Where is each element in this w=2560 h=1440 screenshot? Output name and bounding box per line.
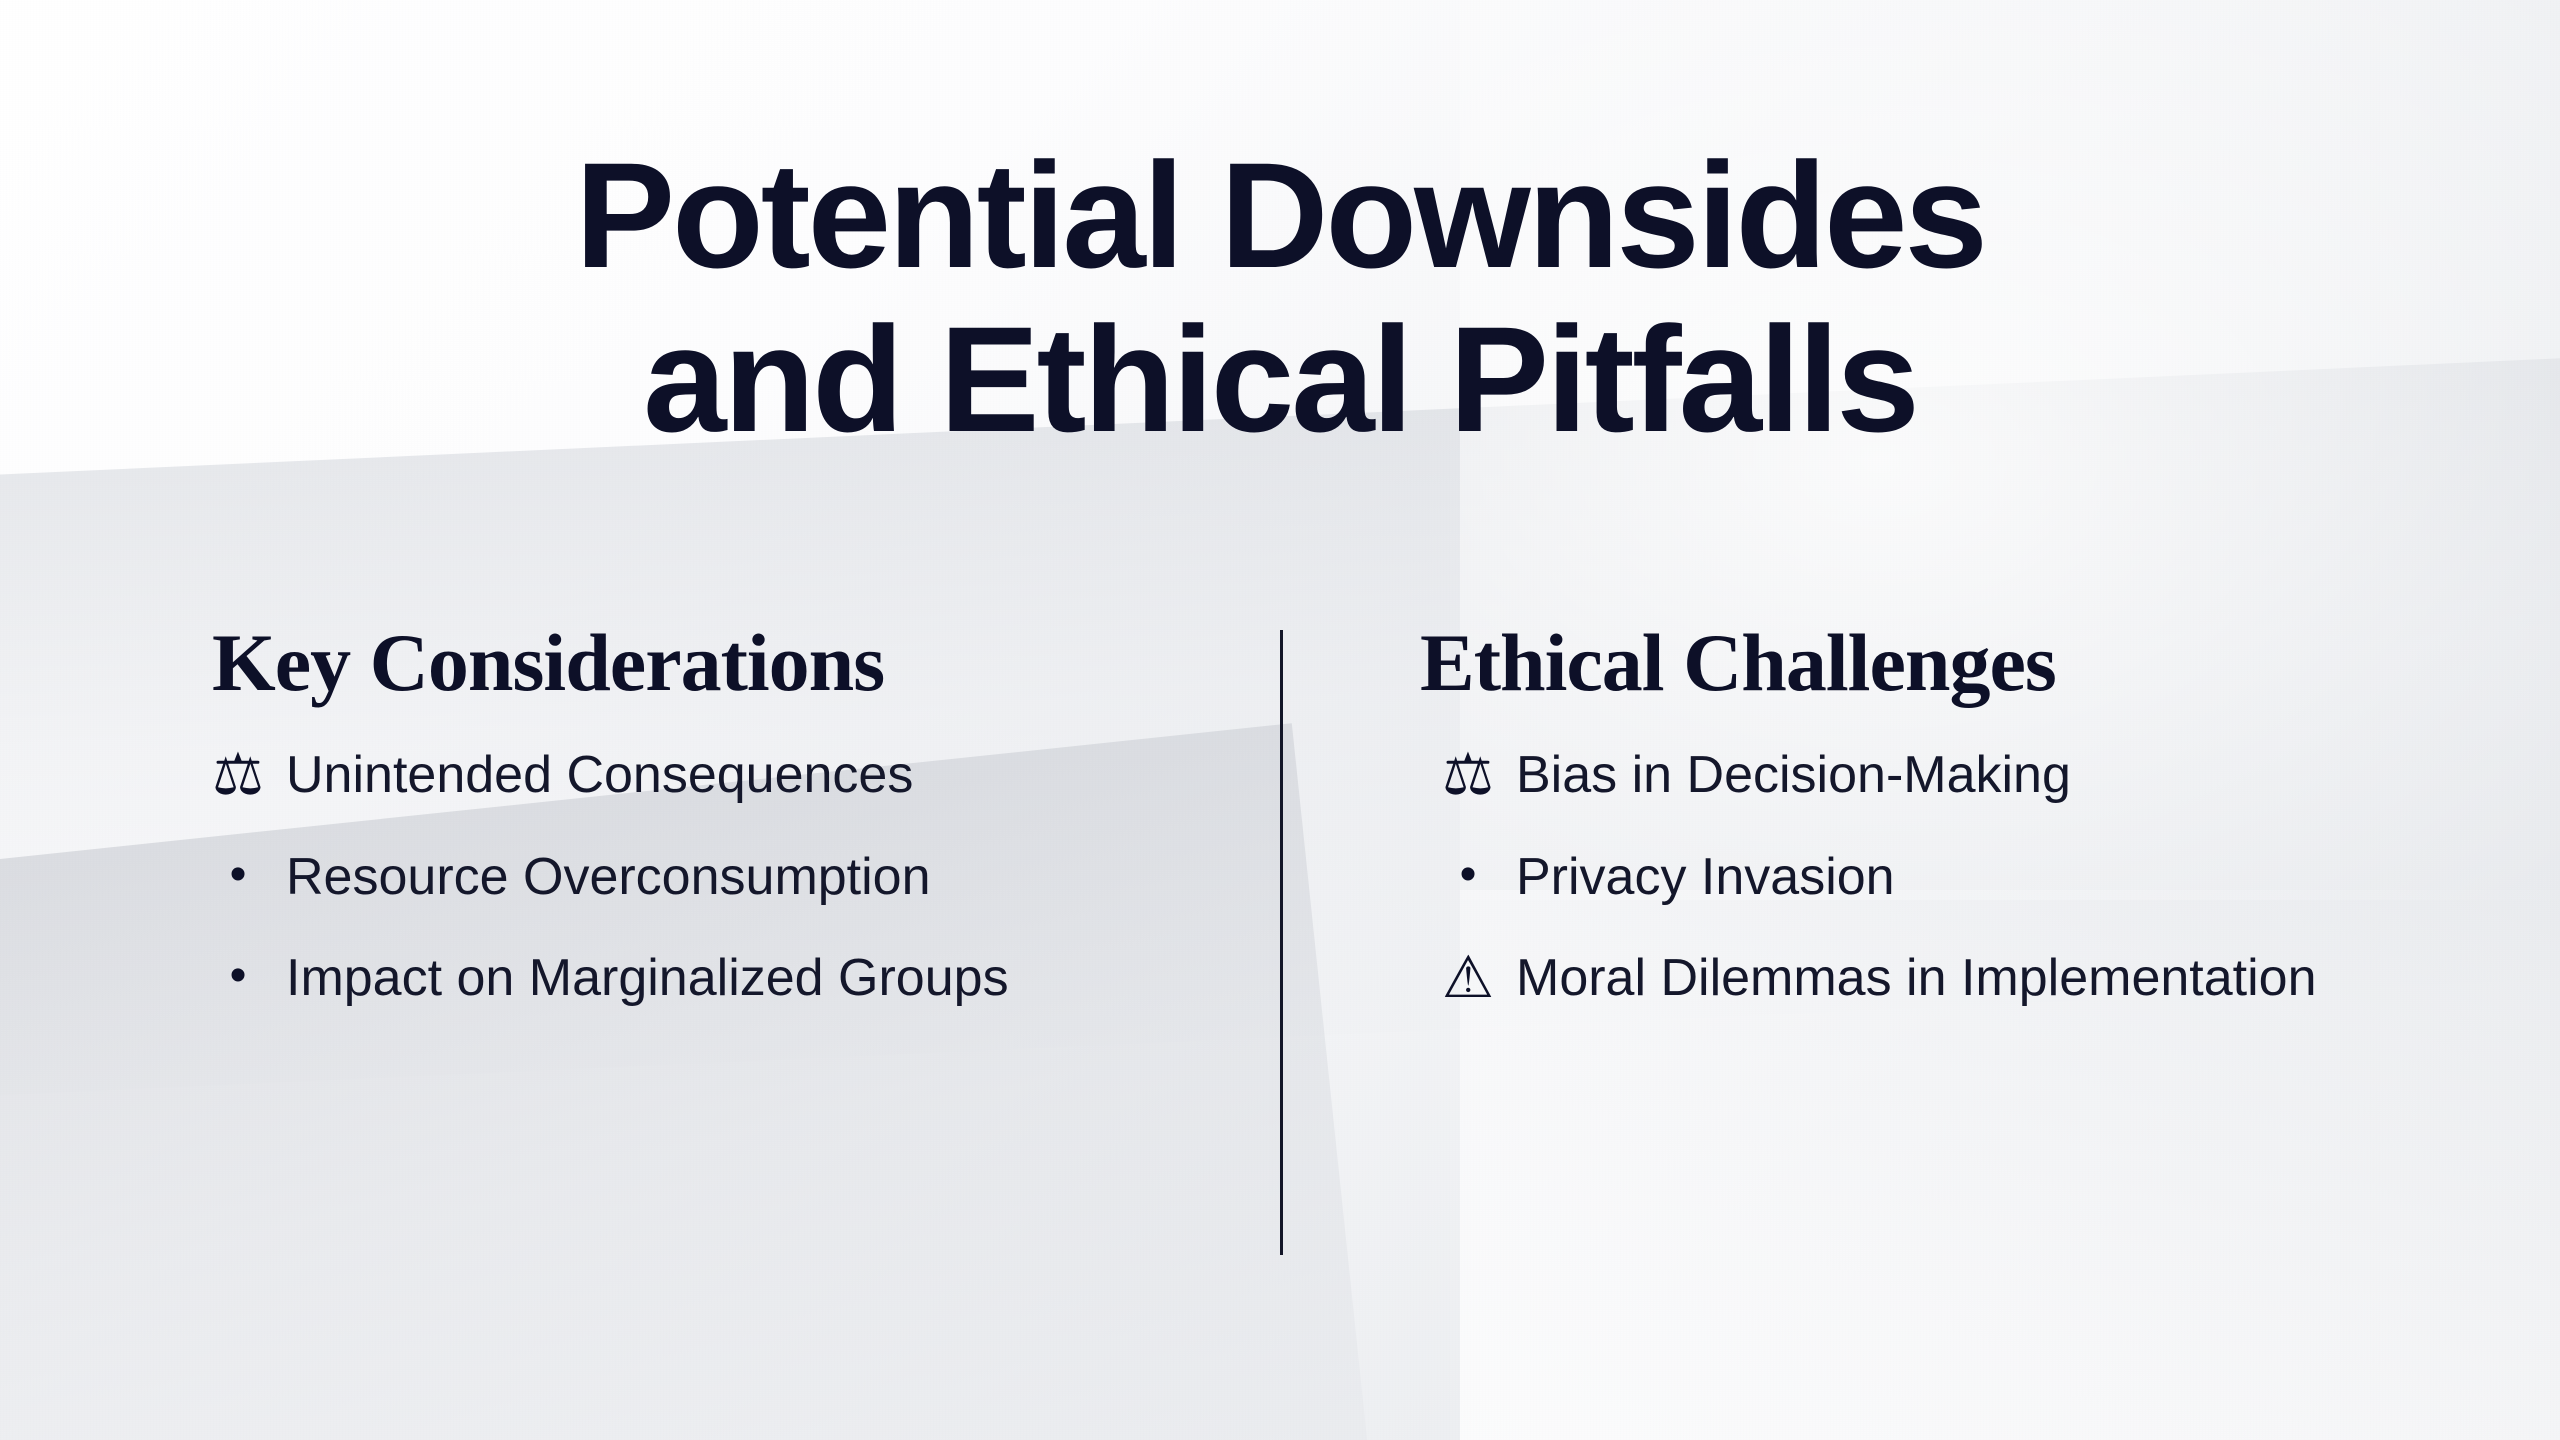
list-item: ⚖ Unintended Consequences [190,744,1190,807]
list-item: ⚖ Bias in Decision-Making [1420,744,2470,807]
column-heading-right: Ethical Challenges [1420,620,2470,706]
list-item-label: Impact on Marginalized Groups [286,947,1146,1010]
column-key-considerations: Key Considerations ⚖ Unintended Conseque… [0,620,1280,1010]
column-divider [1280,630,1283,1255]
list-item-label: Bias in Decision-Making [1516,744,2376,807]
list-item: ⚠ Moral Dilemmas in Implemen­tation [1420,947,2470,1010]
bullet-icon: • [190,947,286,1006]
scales-icon: ⚖ [1420,744,1516,807]
list-ethical-challenges: ⚖ Bias in Decision-Making • Privacy Inva… [1420,744,2470,1010]
bullet-icon: • [190,846,286,905]
scales-icon: ⚖ [190,744,286,807]
slide-title: Potential Downsides and Ethical Pitfalls [0,140,2560,454]
list-item-label: Unintended Consequences [286,744,1146,807]
bullet-icon: • [1420,846,1516,905]
title-line-1: Potential Downsides [0,140,2560,290]
title-line-2: and Ethical Pitfalls [0,304,2560,454]
column-ethical-challenges: Ethical Challenges ⚖ Bias in Decision-Ma… [1280,620,2560,1010]
slide-canvas: Potential Downsides and Ethical Pitfalls… [0,0,2560,1440]
list-item-label: Moral Dilemmas in Implemen­tation [1516,947,2376,1010]
list-item: • Impact on Marginalized Groups [190,947,1190,1010]
list-item-label: Privacy Invasion [1516,846,2376,909]
list-key-considerations: ⚖ Unintended Consequences • Resource Ove… [190,744,1190,1010]
list-item-label: Resource Overconsumption [286,846,1146,909]
list-item: • Privacy Invasion [1420,846,2470,909]
list-item: • Resource Overconsumption [190,846,1190,909]
warning-icon: ⚠ [1420,947,1516,1010]
column-heading-left: Key Considerations [190,620,1190,706]
